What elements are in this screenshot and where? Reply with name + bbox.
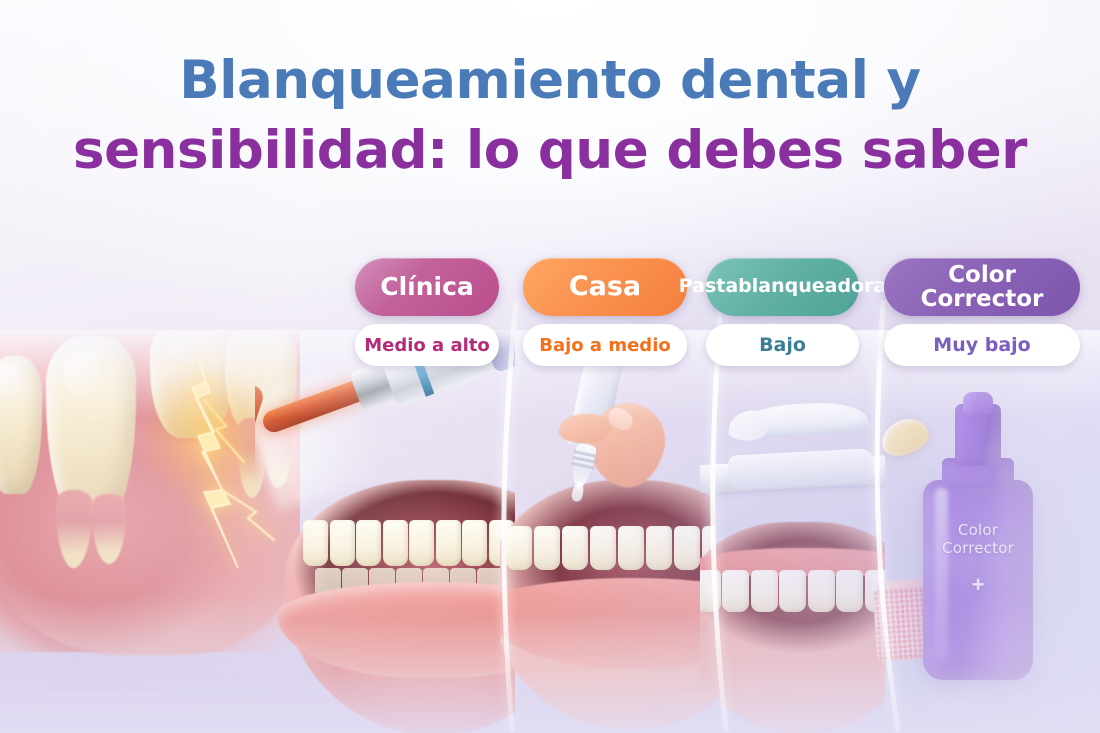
panel-whitening-toothpaste: [700, 330, 885, 733]
panel-home-whitening: [500, 330, 715, 733]
bottle-label-line1: Color: [958, 521, 998, 539]
title-line-2: sensibilidad: lo que debes saber: [0, 116, 1100, 186]
toothbrush: [700, 397, 885, 520]
badge-label-pasta-blanqueadora[interactable]: Pasta blanqueadora: [706, 258, 859, 316]
color-corrector-bottle: Color Corrector +: [923, 392, 1033, 682]
badge-column-casa[interactable]: Casa Bajo a medio: [523, 258, 687, 366]
page-title: Blanqueamiento dental y sensibilidad: lo…: [0, 46, 1100, 186]
badge-label-line1: Pasta: [679, 277, 738, 297]
treatment-badges: Clínica Medio a alto Casa Bajo a medio P…: [0, 258, 1100, 373]
badge-label-line2: blanqueadora: [738, 277, 886, 297]
upper-teeth-row: [700, 570, 885, 612]
badge-label-casa[interactable]: Casa: [523, 258, 687, 316]
bottle-label-line2: Corrector: [942, 539, 1014, 557]
badge-sensitivity-clinica[interactable]: Medio a alto: [355, 324, 499, 366]
upper-teeth-row: [506, 526, 715, 570]
badge-sensitivity-color-corrector[interactable]: Muy bajo: [884, 324, 1080, 366]
badge-column-clinica[interactable]: Clínica Medio a alto: [355, 258, 499, 366]
bottle-label: Color Corrector: [923, 522, 1033, 557]
badge-column-color-corrector[interactable]: Color Corrector Muy bajo: [884, 258, 1080, 366]
badge-sensitivity-casa[interactable]: Bajo a medio: [523, 324, 687, 366]
photo-band: Color Corrector +: [0, 330, 1100, 733]
bottle-plus-symbol: +: [923, 572, 1033, 598]
badge-column-pasta-blanqueadora[interactable]: Pasta blanqueadora Bajo: [706, 258, 859, 366]
infographic-canvas: Color Corrector +: [0, 0, 1100, 733]
badge-sensitivity-pasta-blanqueadora[interactable]: Bajo: [706, 324, 859, 366]
finger: [559, 414, 611, 444]
panel-color-corrector-product: Color Corrector +: [865, 330, 1100, 733]
bottle-dropper-knob: [963, 392, 993, 414]
title-line-1: Blanqueamiento dental y: [0, 46, 1100, 116]
badge-label-clinica[interactable]: Clínica: [355, 258, 499, 316]
badge-label-color-corrector[interactable]: Color Corrector: [884, 258, 1080, 316]
panel-clinic-whitening: [255, 330, 515, 733]
toothpaste-curl: [727, 410, 769, 442]
serum-droplet: [877, 414, 933, 460]
